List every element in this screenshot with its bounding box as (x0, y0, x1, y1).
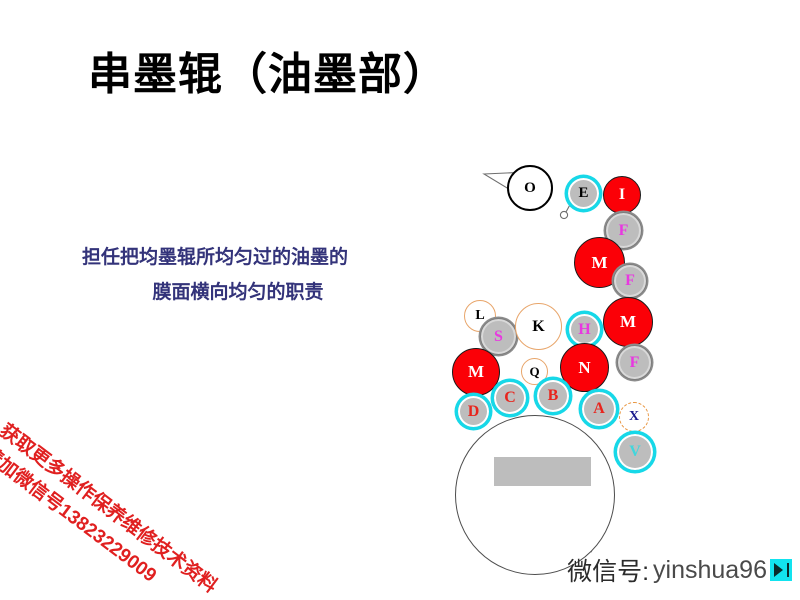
roller-e[interactable]: E (566, 176, 601, 211)
watermark-text: 获取更多操作保养维修技术资料 请加微信号13823229009 (0, 418, 210, 600)
roller-v[interactable]: V (615, 432, 655, 472)
roller-label: M (468, 362, 484, 382)
roller-label: B (548, 387, 559, 405)
roller-label: H (578, 321, 590, 339)
roller-h[interactable]: H (567, 312, 602, 347)
roller-label: F (619, 222, 629, 240)
roller-label: E (578, 185, 588, 202)
roller-label: M (591, 253, 607, 273)
wechat-label: 微信号: (567, 552, 649, 588)
body-line-1: 担任把均墨辊所均匀过的油墨的 (82, 247, 348, 268)
body-line-2: 膜面横向均匀的职责 (40, 275, 390, 310)
roller-label: K (532, 318, 544, 336)
roller-e-pivot-icon (560, 211, 567, 218)
slide-canvas: 串墨辊（油墨部） 担任把均墨辊所均匀过的油墨的 膜面横向均匀的职责 OEIFMF… (0, 0, 800, 600)
impression-drum[interactable] (455, 415, 615, 575)
roller-f3[interactable]: F (617, 345, 652, 380)
printing-plate-rect (494, 457, 591, 486)
roller-label: I (619, 186, 625, 204)
roller-label: V (629, 443, 641, 461)
roller-m2[interactable]: M (603, 297, 653, 347)
roller-label: X (629, 409, 639, 425)
watermark-line-1: 获取更多操作保养维修技术资料 (0, 418, 210, 590)
body-paragraph: 担任把均墨辊所均匀过的油墨的 膜面横向均匀的职责 (40, 240, 390, 310)
roller-label: M (620, 312, 636, 332)
play-icon[interactable] (770, 559, 792, 581)
wechat-id: yinshua96 (653, 556, 767, 585)
roller-label: S (494, 328, 503, 346)
roller-label: Q (529, 364, 539, 380)
roller-o[interactable]: O (507, 165, 553, 211)
roller-label: O (524, 180, 536, 197)
roller-label: F (625, 272, 635, 290)
roller-k[interactable]: K (515, 303, 562, 350)
roller-label: F (630, 354, 640, 372)
roller-f2[interactable]: F (613, 264, 647, 298)
roller-label: D (468, 403, 480, 421)
roller-label: A (593, 400, 605, 418)
roller-a[interactable]: A (580, 390, 618, 428)
page-title: 串墨辊（油墨部） (88, 38, 448, 102)
roller-label: C (504, 389, 516, 407)
roller-label: N (578, 358, 590, 378)
roller-m3[interactable]: M (452, 348, 500, 396)
roller-label: L (475, 308, 484, 324)
roller-b[interactable]: B (535, 378, 571, 414)
roller-d[interactable]: D (456, 394, 491, 429)
roller-i[interactable]: I (603, 176, 641, 214)
roller-x[interactable]: X (619, 402, 649, 432)
wechat-footer: 微信号: yinshua96 (567, 552, 792, 588)
roller-c[interactable]: C (492, 380, 528, 416)
